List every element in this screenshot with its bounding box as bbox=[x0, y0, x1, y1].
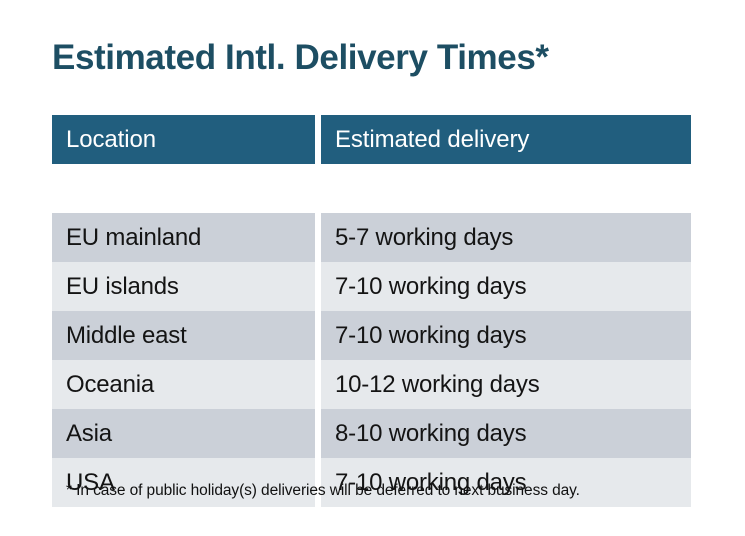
cell-location: Asia bbox=[52, 409, 315, 458]
table-row: Middle east 7-10 working days bbox=[52, 311, 691, 360]
table-row: EU mainland 5-7 working days bbox=[52, 213, 691, 262]
table-header-row: Location Estimated delivery bbox=[52, 115, 691, 164]
cell-location: Oceania bbox=[52, 360, 315, 409]
delivery-times-page: Estimated Intl. Delivery Times* Location… bbox=[0, 0, 745, 536]
table-row: Asia 8-10 working days bbox=[52, 409, 691, 458]
table-row: Oceania 10-12 working days bbox=[52, 360, 691, 409]
header-separator bbox=[52, 164, 691, 213]
cell-estimated-delivery: 7-10 working days bbox=[321, 262, 691, 311]
cell-estimated-delivery: 7-10 working days bbox=[321, 311, 691, 360]
table-row: EU islands 7-10 working days bbox=[52, 262, 691, 311]
column-header-location: Location bbox=[52, 115, 315, 164]
header-separator-right bbox=[321, 164, 691, 213]
table-body: EU mainland 5-7 working days EU islands … bbox=[52, 164, 691, 507]
footnote: * In case of public holiday(s) deliverie… bbox=[66, 481, 580, 501]
table-header: Location Estimated delivery bbox=[52, 115, 691, 164]
cell-location: EU mainland bbox=[52, 213, 315, 262]
header-separator-left bbox=[52, 164, 315, 213]
cell-location: EU islands bbox=[52, 262, 315, 311]
estimated-delivery-table: Location Estimated delivery EU mainland … bbox=[52, 115, 691, 507]
column-header-estimated-delivery: Estimated delivery bbox=[321, 115, 691, 164]
cell-estimated-delivery: 8-10 working days bbox=[321, 409, 691, 458]
page-title: Estimated Intl. Delivery Times* bbox=[52, 36, 549, 80]
cell-estimated-delivery: 5-7 working days bbox=[321, 213, 691, 262]
cell-estimated-delivery: 10-12 working days bbox=[321, 360, 691, 409]
cell-location: Middle east bbox=[52, 311, 315, 360]
